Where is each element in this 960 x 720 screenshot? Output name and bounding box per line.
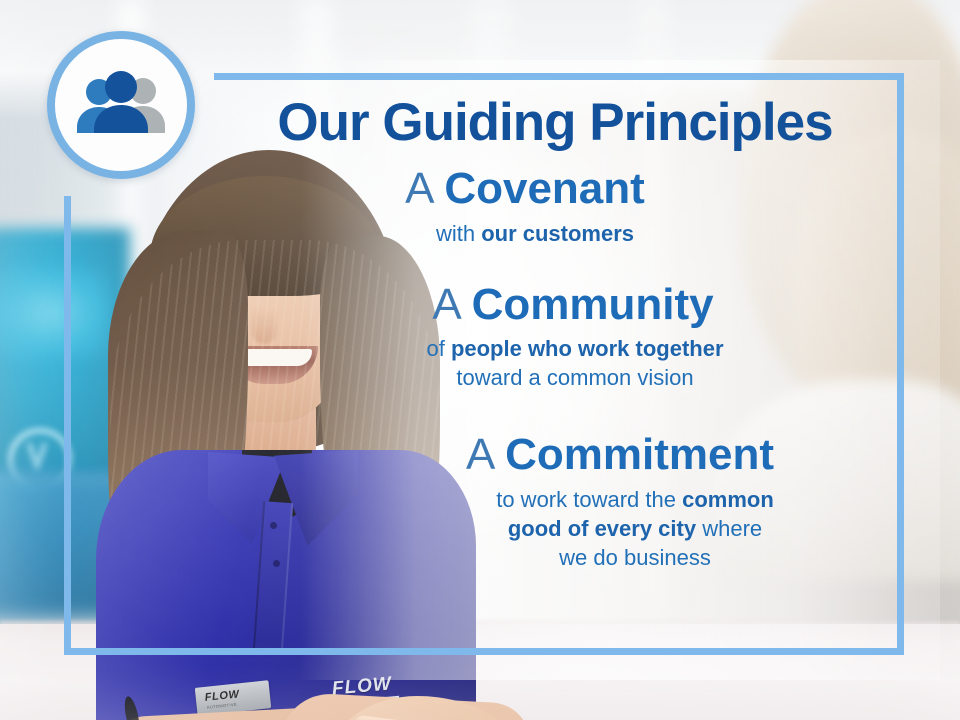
principle-keyword: Commitment	[505, 430, 774, 479]
principle-keyword: Community	[472, 280, 714, 329]
guiding-principles-banner: FLOW AUTOMOTIVE FLOW	[0, 0, 960, 720]
principle-community: A Community of people who work togethert…	[210, 282, 900, 393]
principle-subtext: of people who work togethertoward a comm…	[210, 334, 900, 392]
principle-subtext: to work toward the commongood of every c…	[210, 485, 900, 572]
principle-plain: with	[436, 221, 481, 246]
principle-subtext-line: toward a common vision	[250, 363, 900, 392]
page-title: Our Guiding Principles	[210, 95, 900, 150]
principles-text-column: Our Guiding Principles A Covenant with o…	[210, 75, 900, 572]
principle-emphasis: our customers	[481, 221, 634, 246]
principle-subtext-line: to work toward the common	[370, 485, 900, 514]
principle-lead: A Commitment	[210, 432, 900, 479]
principle-emphasis: people who work together	[451, 336, 724, 361]
principle-keyword: Covenant	[444, 164, 644, 213]
frame-border-left	[64, 196, 71, 655]
principle-plain: where	[696, 516, 762, 541]
principle-article: A	[466, 430, 493, 479]
principle-article: A	[432, 280, 459, 329]
principle-subtext: with our customers	[210, 219, 900, 248]
people-group-icon	[75, 71, 167, 139]
frame-border-bottom	[64, 648, 904, 655]
principle-lead: A Community	[210, 282, 900, 329]
principle-plain: we do business	[559, 545, 711, 570]
principle-plain: toward a common vision	[456, 365, 693, 390]
principle-subtext-line: we do business	[370, 543, 900, 572]
people-badge	[47, 31, 195, 179]
principle-emphasis: good of every city	[508, 516, 696, 541]
principle-commitment: A Commitment to work toward the commongo…	[210, 432, 900, 572]
principle-emphasis: common	[682, 487, 774, 512]
principle-covenant: A Covenant with our customers	[210, 166, 900, 248]
principle-subtext-line: with our customers	[210, 219, 860, 248]
principle-subtext-line: good of every city where	[370, 514, 900, 543]
principle-plain: to work toward the	[496, 487, 682, 512]
principle-subtext-line: of people who work together	[250, 334, 900, 363]
principle-plain: of	[426, 336, 450, 361]
principle-article: A	[405, 164, 432, 213]
principle-lead: A Covenant	[210, 166, 900, 213]
